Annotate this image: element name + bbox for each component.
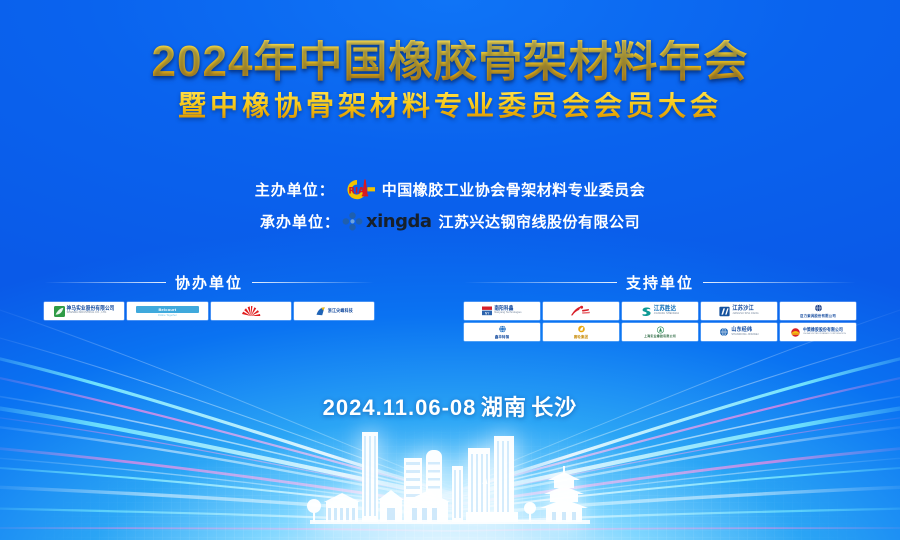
rule-right xyxy=(703,282,856,283)
host-row-undertaker: 承办单位： xingda 江苏兴达钢帘线股份有限公司 xyxy=(0,208,900,234)
logo-zh: 江苏胜达 xyxy=(654,306,679,312)
undertaker-name: 江苏兴达钢帘线股份有限公司 xyxy=(439,211,641,232)
event-province: 湖南 xyxy=(481,390,527,422)
red-arch-mark-icon xyxy=(790,328,801,337)
logo-text: 山东经纬 SHANDONG JINGWEI xyxy=(731,328,758,336)
partner-sections: 协办单位 神马实业股份有限公司 SHENMA INDUSTRIAL CO., L… xyxy=(0,272,900,341)
blue-yellow-arrow-mark-icon xyxy=(315,306,326,317)
headline-block: 2024年中国橡胶骨架材料年会 暨中橡协骨架材料专业委员会会员大会 xyxy=(0,40,900,120)
logo-zh: 山东经纬 xyxy=(731,327,758,333)
logo-tile[interactable]: 山东经纬 SHANDONG JINGWEI xyxy=(701,323,777,341)
coorganizer-heading: 协办单位 xyxy=(44,272,374,293)
logo-zh: Belcourt xyxy=(158,307,176,312)
red-sunburst-mark-icon xyxy=(241,305,261,317)
cria-logo-icon: RIA xyxy=(337,178,377,200)
supporter-logo-row-2: 鑫华特钢 赛轮集团 上海实业橡胶有限公司 xyxy=(464,323,856,341)
logo-text: 江苏胜达 JIANGSU SHENGDA xyxy=(654,307,679,316)
blue-net-mark-icon xyxy=(719,327,729,337)
undertaker-label: 承办单位： xyxy=(260,211,340,232)
logo-tile[interactable]: 浙江尖峰科技 xyxy=(294,302,374,320)
teal-s-mark-icon xyxy=(641,306,652,317)
supporter-heading: 支持单位 xyxy=(464,272,856,293)
logo-en: SHENMA INDUSTRIAL CO., LTD. xyxy=(67,312,115,315)
blue-globe-mark-icon xyxy=(498,325,507,333)
logo-zh: 中策橡胶股份有限公司 xyxy=(803,328,846,332)
logo-tile[interactable]: 赛轮集团 xyxy=(543,323,619,341)
logo-zh: 巨力索具股份有限公司 xyxy=(800,313,836,318)
host-block: 主办单位： RIA 中国橡胶工业协会骨架材料专业委员会 承办单位： xyxy=(0,176,900,234)
red-block-mark-icon: NY xyxy=(482,306,492,316)
logo-tile[interactable]: 巨力索具股份有限公司 xyxy=(780,302,856,320)
logo-tile[interactable] xyxy=(211,302,291,320)
logo-zh: 南阳科鑫 xyxy=(494,307,521,312)
logo-text: 神马实业股份有限公司 SHENMA INDUSTRIAL CO., LTD. xyxy=(67,307,115,315)
changsha-skyline xyxy=(300,422,600,532)
event-date: 2024.11.06-08 xyxy=(323,395,477,421)
rule-right xyxy=(252,282,374,283)
logo-tile[interactable]: 中策橡胶股份有限公司 CHINA UNITED RUBBER CORPORATI… xyxy=(780,323,856,341)
logo-tile[interactable]: 江苏胜达 JIANGSU SHENGDA xyxy=(622,302,698,320)
date-location-bar: 2024.11.06-08 湖南 长沙 xyxy=(0,390,900,422)
logo-zh: 鑫华特钢 xyxy=(495,334,509,339)
navy-globe-mark-icon xyxy=(814,304,823,312)
coorganizer-section: 协办单位 神马实业股份有限公司 SHENMA INDUSTRIAL CO., L… xyxy=(44,272,374,341)
logo-tile[interactable]: NY 南阳科鑫 Nanyang Technologies xyxy=(464,302,540,320)
logo-text: 南阳科鑫 Nanyang Technologies xyxy=(494,307,521,315)
conference-banner: 2024年中国橡胶骨架材料年会 暨中橡协骨架材料专业委员会会员大会 主办单位： … xyxy=(0,0,900,540)
logo-en: CHINA UNITED RUBBER CORPORATION xyxy=(803,333,846,335)
supporter-logo-row-1: NY 南阳科鑫 Nanyang Technologies xyxy=(464,302,856,320)
blue-square-mark-icon xyxy=(719,306,730,317)
xingda-logo-icon: xingda xyxy=(342,211,432,231)
event-city: 长沙 xyxy=(531,390,577,422)
rule-left xyxy=(464,282,617,283)
logo-tile[interactable]: 鑫华特钢 xyxy=(464,323,540,341)
logo-en: JIANGSU SHENGDA xyxy=(654,313,679,316)
logo-zh: 上海实业橡胶有限公司 xyxy=(644,334,676,338)
logo-en: SHANDONG JINGWEI xyxy=(731,334,758,337)
green-emblem-mark-icon xyxy=(656,326,665,334)
host-row-organizer: 主办单位： RIA 中国橡胶工业协会骨架材料专业委员会 xyxy=(0,176,900,202)
green-leaf-mark-icon xyxy=(54,306,65,317)
supporter-title: 支持单位 xyxy=(626,272,694,293)
logo-tile[interactable] xyxy=(543,302,619,320)
logo-tile[interactable]: 江苏沙江 JIANGSU SHA JIANG xyxy=(701,302,777,320)
coorganizer-logo-row: 神马实业股份有限公司 SHENMA INDUSTRIAL CO., LTD. B… xyxy=(44,302,374,320)
red-runner-mark-icon xyxy=(568,305,594,317)
coorganizer-title: 协办单位 xyxy=(175,272,243,293)
logo-tile[interactable]: 上海实业橡胶有限公司 xyxy=(622,323,698,341)
logo-text: 浙江尖峰科技 xyxy=(328,309,353,313)
organizer-name: 中国橡胶工业协会骨架材料专业委员会 xyxy=(382,179,646,200)
page-title: 2024年中国橡胶骨架材料年会 xyxy=(0,40,900,84)
rule-left xyxy=(44,282,166,283)
logo-zh: 赛轮集团 xyxy=(574,334,588,339)
logo-en: JIANGSU SHA JIANG xyxy=(732,313,758,316)
logo-en: Online Together xyxy=(158,314,177,317)
logo-en: Nanyang Technologies xyxy=(494,312,521,315)
gold-circle-mark-icon xyxy=(577,325,586,333)
logo-tile[interactable]: Belcourt Online Together xyxy=(127,302,207,320)
page-subtitle: 暨中橡协骨架材料专业委员会会员大会 xyxy=(0,92,900,120)
logo-zh: 浙江尖峰科技 xyxy=(328,309,353,314)
logo-text: 中策橡胶股份有限公司 CHINA UNITED RUBBER CORPORATI… xyxy=(803,329,846,336)
logo-zh: 神马实业股份有限公司 xyxy=(67,307,115,312)
supporter-section: 支持单位 NY 南阳科鑫 Nanyang Technologies xyxy=(464,272,856,341)
logo-zh: 江苏沙江 xyxy=(732,306,758,312)
logo-text: 江苏沙江 JIANGSU SHA JIANG xyxy=(732,307,758,316)
organizer-label: 主办单位： xyxy=(255,179,335,200)
xingda-wordmark: xingda xyxy=(366,211,432,232)
logo-tile[interactable]: 神马实业股份有限公司 SHENMA INDUSTRIAL CO., LTD. xyxy=(44,302,124,320)
